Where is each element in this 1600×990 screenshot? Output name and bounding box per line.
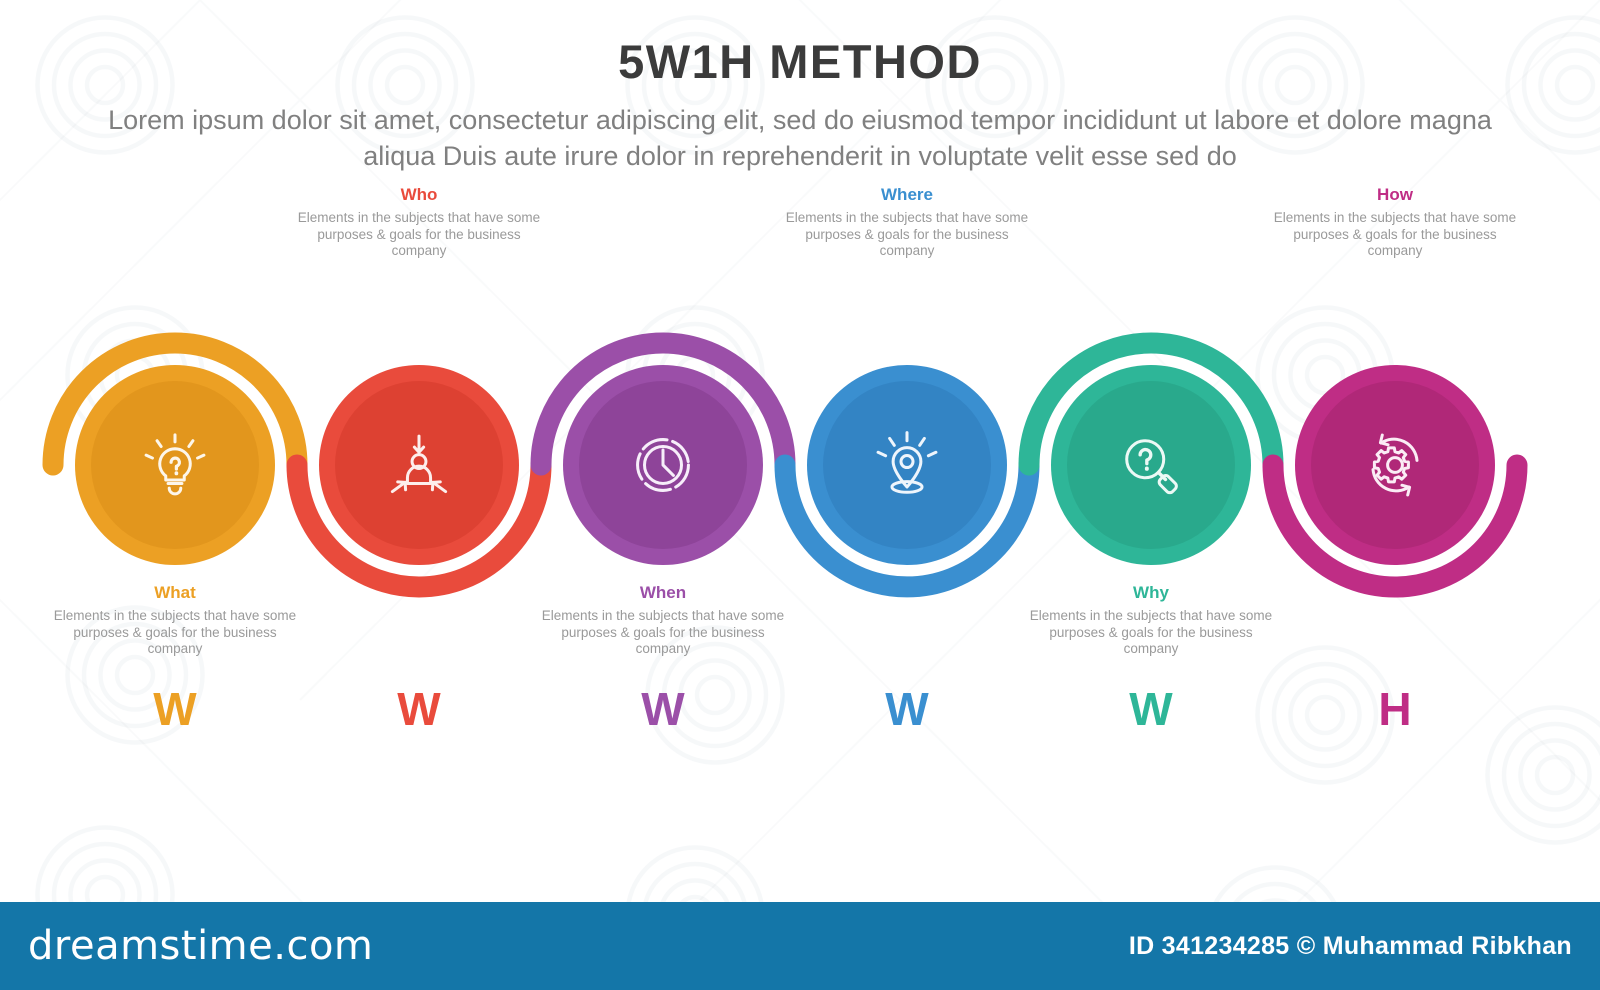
location-pin-icon [870,428,944,502]
header: 5W1H METHOD Lorem ipsum dolor sit amet, … [0,36,1600,175]
node-who-circle[interactable] [319,365,519,565]
letter-where: W [832,686,982,732]
node-what-circle[interactable] [75,365,275,565]
letter-who: W [344,686,494,732]
page-title: 5W1H METHOD [0,36,1600,88]
node-where-label: Where [782,185,1032,205]
letter-why: W [1076,686,1226,732]
node-when-caption: When Elements in the subjects that have … [538,583,788,658]
image-credit: ID 341234285 © Muhammad Ribkhan [1129,932,1572,961]
dreamstime-logo: dreamstime.com [28,923,373,969]
node-who[interactable]: Who Elements in the subjects that have s… [319,365,519,565]
gear-refresh-icon [1358,428,1432,502]
node-where[interactable]: Where Elements in the subjects that have… [807,365,1007,565]
node-when-description: Elements in the subjects that have some … [538,608,788,657]
lightbulb-question-icon [138,428,212,502]
node-why-circle[interactable] [1051,365,1251,565]
node-what-caption: What Elements in the subjects that have … [50,583,300,658]
node-how-circle[interactable] [1295,365,1495,565]
letter-how: H [1320,686,1470,732]
node-who-caption: Who Elements in the subjects that have s… [294,185,544,260]
node-what[interactable]: What Elements in the subjects that have … [75,365,275,565]
page-subtitle: Lorem ipsum dolor sit amet, consectetur … [70,102,1530,175]
node-how-caption: How Elements in the subjects that have s… [1270,185,1520,260]
node-what-description: Elements in the subjects that have some … [50,608,300,657]
node-why[interactable]: Why Elements in the subjects that have s… [1051,365,1251,565]
node-who-description: Elements in the subjects that have some … [294,210,544,259]
node-where-circle[interactable] [807,365,1007,565]
letter-when: W [588,686,738,732]
node-when-label: When [538,583,788,603]
node-how-label: How [1270,185,1520,205]
magnifier-question-icon [1114,428,1188,502]
watermark-footer-bar: dreamstime.com ID 341234285 © Muhammad R… [0,902,1600,990]
letter-what: W [100,686,250,732]
person-arrows-icon [382,428,456,502]
node-what-label: What [50,583,300,603]
dreamstime-wordmark: dreamstime.com [28,923,373,969]
node-how-description: Elements in the subjects that have some … [1270,210,1520,259]
node-when-circle[interactable] [563,365,763,565]
letters-row: W W W W W H [0,686,1600,746]
node-why-caption: Why Elements in the subjects that have s… [1026,583,1276,658]
node-when[interactable]: When Elements in the subjects that have … [563,365,763,565]
infographic-page: 5W1H METHOD Lorem ipsum dolor sit amet, … [0,0,1600,990]
node-where-caption: Where Elements in the subjects that have… [782,185,1032,260]
node-who-label: Who [294,185,544,205]
node-why-label: Why [1026,583,1276,603]
clock-icon [626,428,700,502]
node-how[interactable]: How Elements in the subjects that have s… [1295,365,1495,565]
node-why-description: Elements in the subjects that have some … [1026,608,1276,657]
node-where-description: Elements in the subjects that have some … [782,210,1032,259]
